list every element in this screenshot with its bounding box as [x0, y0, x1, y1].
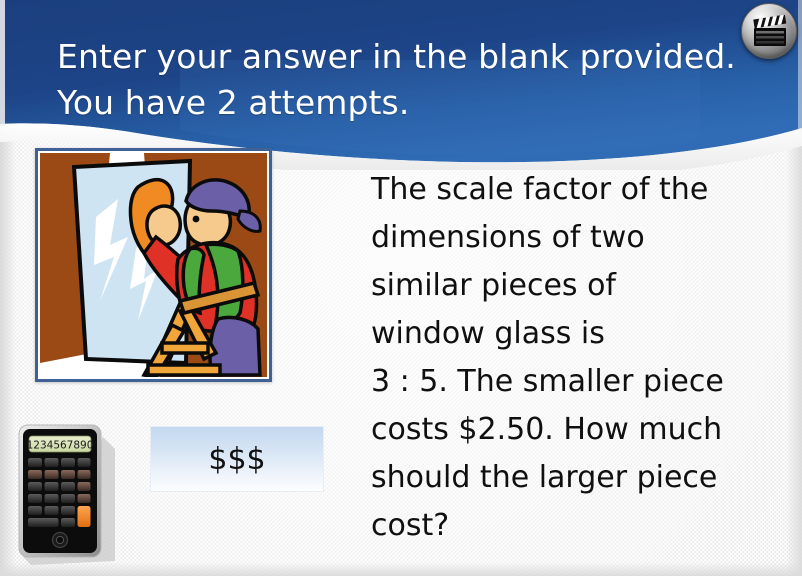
question-text: The scale factor of the dimensions of tw… — [371, 166, 771, 550]
calculator-equals-key — [78, 506, 91, 527]
question-line-2: dimensions of two — [371, 214, 771, 262]
movie-clapperboard-icon — [751, 15, 789, 49]
answer-value: $$$ — [208, 442, 265, 477]
calculator-icon: 1234567890 — [11, 419, 115, 567]
slide-canvas: Enter your answer in the blank provided.… — [0, 0, 802, 576]
question-line-8: cost? — [371, 502, 771, 550]
calculator-display-value: 1234567890 — [27, 440, 94, 452]
calculator-button[interactable]: 1234567890 — [11, 419, 115, 567]
question-line-6: costs $2.50. How much — [371, 406, 771, 454]
question-line-5: 3 : 5. The smaller piece — [371, 358, 771, 406]
question-line-7: should the larger piece — [371, 454, 771, 502]
header-banner: Enter your answer in the blank provided.… — [0, 0, 802, 170]
window-washer-clipart — [35, 148, 272, 382]
window-washer-illustration — [40, 153, 267, 377]
question-line-4: window glass is — [371, 310, 771, 358]
question-line-3: similar pieces of — [371, 262, 771, 310]
instruction-text: Enter your answer in the blank provided.… — [57, 34, 737, 126]
question-line-1: The scale factor of the — [371, 166, 771, 214]
answer-input-blank[interactable]: $$$ — [150, 426, 324, 492]
instruction-line-2: You have 2 attempts. — [57, 80, 737, 126]
instruction-line-1: Enter your answer in the blank provided. — [57, 34, 737, 80]
background-bottom-shadow — [0, 562, 802, 576]
movie-clapperboard-button[interactable] — [741, 3, 797, 59]
